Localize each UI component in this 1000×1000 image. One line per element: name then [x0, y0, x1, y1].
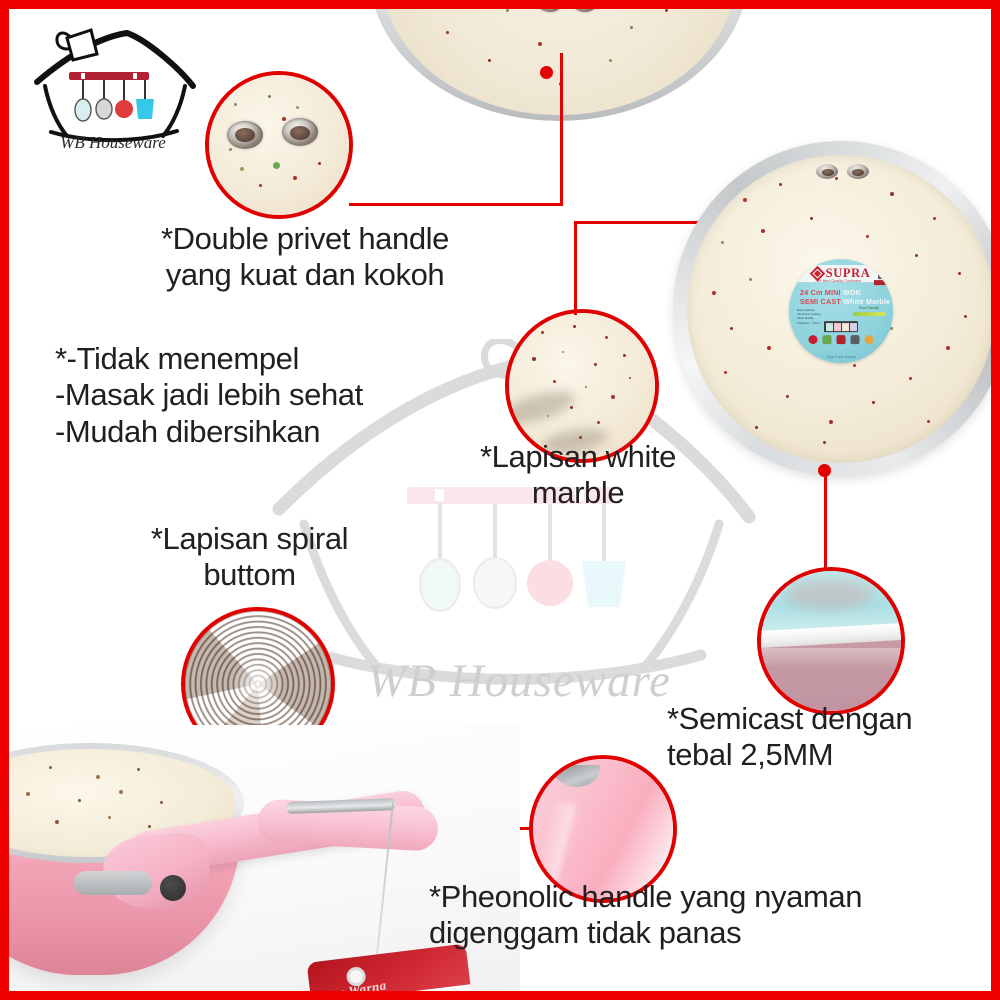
supra-eco-bar [853, 312, 885, 316]
supra-brand-text: SUPRA [826, 267, 871, 280]
main-wok-photo: SUPRA The Best Quality Cookware 24 Cm MI… [673, 141, 1000, 477]
leader-rivet-v [560, 53, 563, 205]
semicast-thickness-detail [757, 567, 905, 715]
double-rivet-detail [205, 71, 353, 219]
callout-benefits: *-Tidak menempel -Masak jadi lebih sehat… [55, 341, 485, 450]
top-wok-interior [382, 0, 736, 115]
main-wok-rivet-right [847, 164, 869, 179]
callout-semicast: *Semicast dengan tebal 2,5MM [667, 701, 967, 774]
callout-phenolic-handle: *Pheonolic handle yang nyaman digenggam … [429, 879, 899, 952]
supra-color-swatches [824, 321, 858, 332]
brand-logo-label: WB Houseware [23, 133, 203, 153]
watermark-text: WB Houseware [309, 654, 729, 708]
top-wok-rivet-left [538, 0, 562, 12]
leader-rivet-h [349, 203, 563, 206]
supra-size-line: 24 Cm MINI WOK [800, 288, 861, 297]
supra-tagline: The Best Quality Cookware [815, 279, 861, 283]
callout-spiral-bottom: *Lapisan spiral buttom [117, 521, 382, 594]
semicast-sheen [761, 648, 901, 668]
supra-certification-icons [809, 335, 874, 344]
supra-badge-red [874, 280, 887, 285]
top-wok-photo [369, 0, 749, 121]
callout-double-rivet: *Double privet handle yang kuat dan koko… [105, 221, 505, 294]
handle-mount [74, 871, 152, 895]
infographic-canvas: WB Houseware [0, 0, 1000, 1000]
supra-badge-dark [878, 267, 886, 279]
supra-product-label: SUPRA The Best Quality Cookware 24 Cm MI… [789, 259, 893, 363]
semicast-blush [786, 579, 873, 610]
supra-eco-badge: Eco-Friendly [853, 307, 885, 319]
supra-spec-text: Body Material : Aluminium Coating : Whit… [797, 308, 825, 325]
leader-semicast-v [824, 469, 827, 569]
leader-rivet-dot [540, 66, 553, 79]
handle-hang-hole [160, 875, 186, 901]
callout-white-marble: *Lapisan white marble [443, 439, 713, 512]
main-wok-interior: SUPRA The Best Quality Cookware 24 Cm MI… [687, 155, 995, 463]
top-wok-rivet-right [573, 0, 597, 12]
supra-footer-text: Tiga Kian Warna [789, 355, 893, 359]
supra-type-line: SEMI CAST White Marble [800, 297, 890, 306]
leader-marble-v [574, 221, 577, 315]
bottom-left-pan-photo: unya Warna [0, 725, 520, 1000]
